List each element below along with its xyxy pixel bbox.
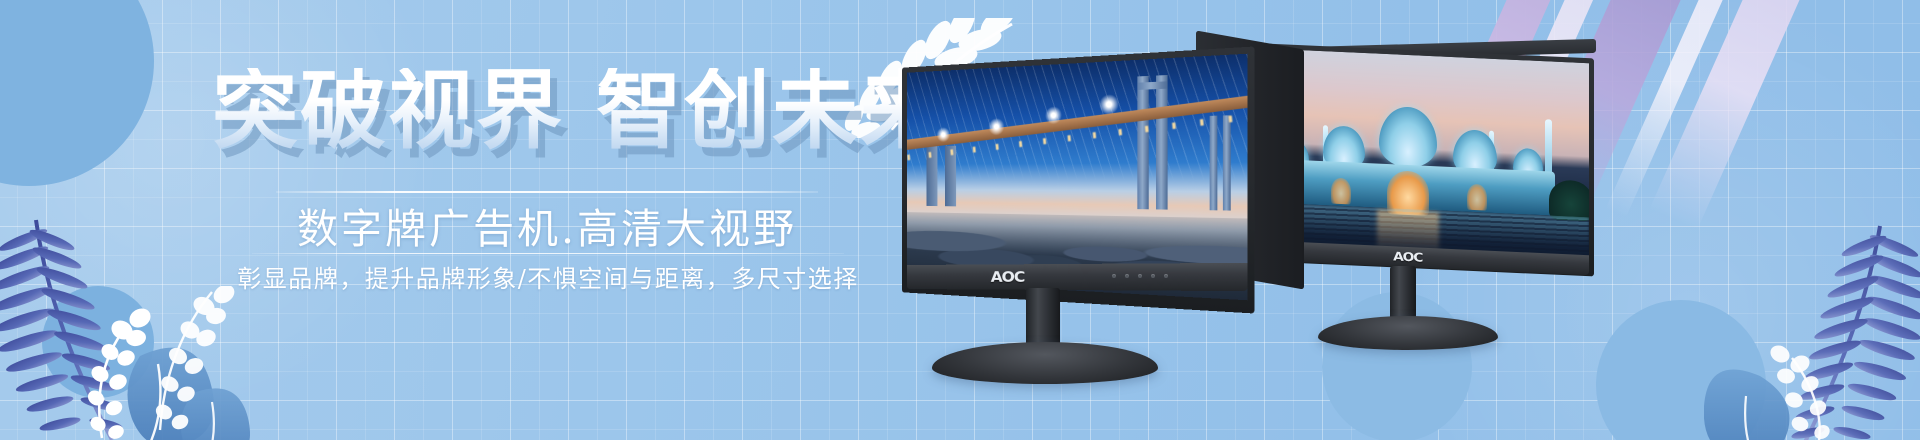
page-title: 突破视界 智创未来 [212,68,948,154]
monitor-primary: AOC [880,42,1310,362]
monitor-primary-chin: AOC [907,263,1248,291]
sprig-icon [120,286,250,440]
aoc-logo: AOC [991,270,1025,285]
title-divider-top [276,191,818,193]
monitor-osd-buttons[interactable] [1112,274,1168,278]
monitor-secondary-base [1318,316,1498,350]
monitor-primary-base [932,342,1158,384]
banner-tagline: 彰显品牌，提升品牌形象/不惧空间与距离，多尺寸选择 [212,259,884,294]
promo-banner: 突破视界 智创未来 数字牌广告机.高清大视野 彰显品牌，提升品牌形象/不惧空间与… [0,0,1920,440]
product-image-group: AOC [880,0,1920,440]
banner-subtitle: 数字牌广告机.高清大视野 [276,195,818,255]
aoc-logo: AOC [1393,250,1422,263]
title-divider-bottom [252,253,844,254]
